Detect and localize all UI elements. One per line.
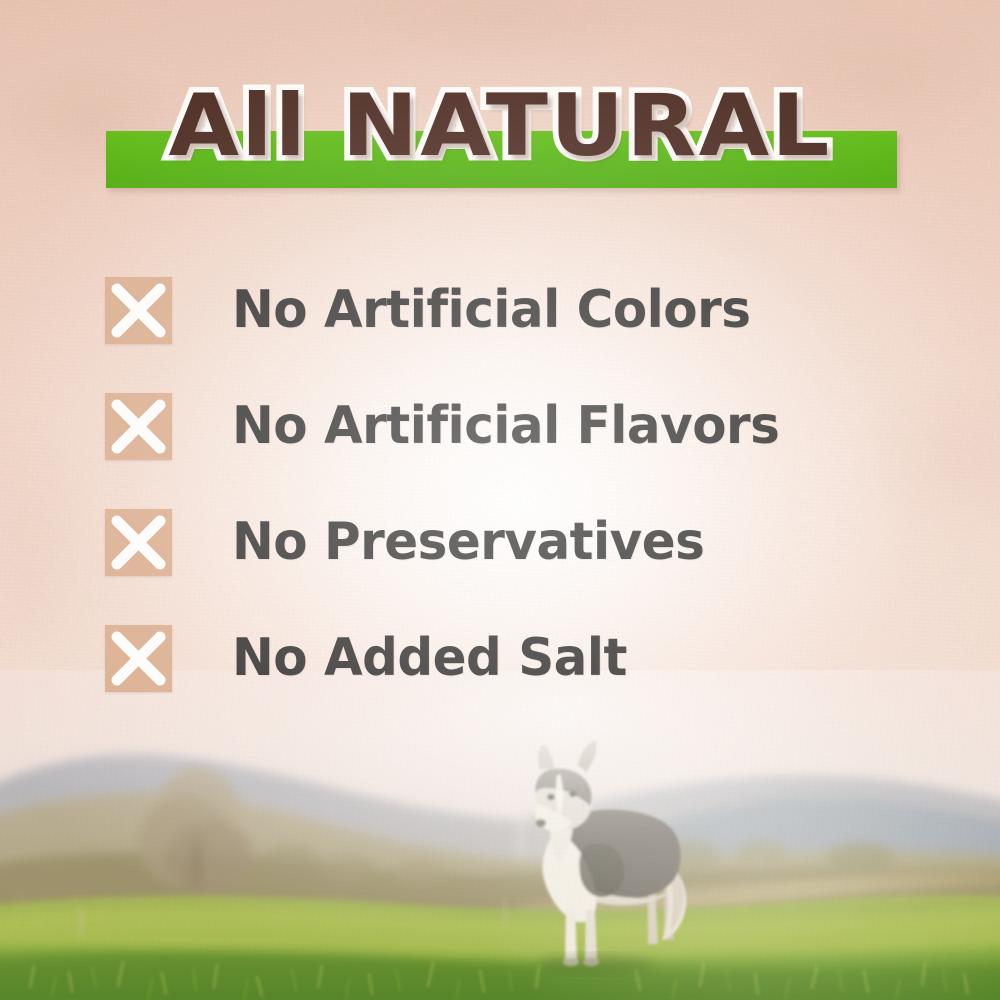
feature-label: No Artificial Flavors — [232, 400, 779, 452]
list-item: No Preservatives — [105, 484, 935, 600]
x-mark-icon — [105, 509, 172, 576]
list-item: No Artificial Colors — [105, 252, 935, 368]
landscape-illustration — [0, 670, 1000, 1000]
list-item: No Artificial Flavors — [105, 368, 935, 484]
all-natural-feature-panel: All NATURAL No Artificial Colors — [0, 0, 1000, 1000]
x-mark-icon — [105, 625, 172, 692]
landscape-photo — [0, 670, 1000, 1000]
x-mark-icon — [105, 277, 172, 344]
title-banner: All NATURAL — [0, 72, 1000, 202]
feature-label: No Artificial Colors — [232, 284, 750, 336]
feature-list: No Artificial Colors No Artificial Flavo… — [105, 252, 935, 716]
page-title: All NATURAL — [0, 72, 1000, 180]
feature-label: No Preservatives — [232, 516, 704, 568]
feature-label: No Added Salt — [232, 632, 627, 684]
x-mark-icon — [105, 393, 172, 460]
list-item: No Added Salt — [105, 600, 935, 716]
